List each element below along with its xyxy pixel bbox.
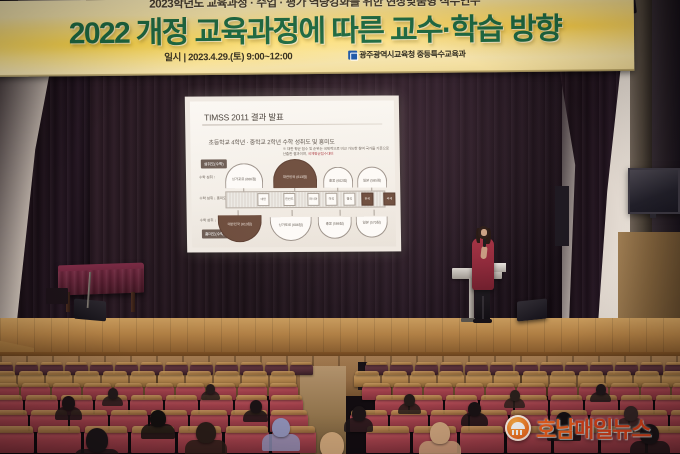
- seat-back-top: [611, 383, 638, 387]
- slide-connector: [292, 210, 293, 216]
- stage-side-opening: [555, 186, 569, 246]
- seat-back-top: [191, 362, 212, 365]
- audience-member-head: [196, 422, 216, 443]
- auditorium-seat: [460, 431, 504, 453]
- slide-subtitle: 초등학교 4학년 · 중학교 2학년 수학 성취도 및 흥미도: [208, 137, 334, 147]
- presenter-shoes: [473, 319, 492, 323]
- seat-back-top: [38, 426, 80, 433]
- seat-back-top: [47, 371, 71, 375]
- seat-back-top: [579, 371, 603, 375]
- seat-back-top: [91, 362, 112, 365]
- seat-back-top: [671, 410, 680, 415]
- podium-laptop: [494, 263, 506, 272]
- event-banner: 2023학년도 교육과정 · 수업 · 평가 역량강화를 위한 현장맞춤형 직무…: [0, 0, 634, 77]
- slide-chip-4: 미국: [325, 193, 337, 206]
- seat-back-top: [621, 395, 652, 400]
- slide-node-top-4: 일본 (585점): [357, 167, 387, 188]
- seat-back-top: [22, 383, 49, 387]
- audience-member-head: [510, 390, 520, 401]
- seat-back-top: [616, 362, 637, 365]
- seat-back-top: [166, 395, 197, 400]
- slide-footnote-line1: ※ 대한 평균 점수 및 순위는 국제적으로 비교 가능한 참여 국가를 기준으…: [283, 146, 389, 156]
- banner-date: 일시 | 2023.4.29.(토) 9:00~12:00: [164, 48, 292, 63]
- audience-member-head: [468, 402, 481, 416]
- banner-organization: 광주광역시교육청 중등특수교육과: [348, 49, 465, 61]
- slide-connector: [374, 210, 375, 216]
- slide-chip-2: 핀란드: [283, 193, 295, 206]
- seat-back-top: [19, 371, 43, 375]
- seat-back-top: [16, 362, 37, 365]
- seat-back-top: [226, 426, 268, 433]
- watermark-text-a: 호남: [536, 417, 574, 442]
- slide-chip-1: 대만: [257, 193, 269, 206]
- seat-back-top: [466, 362, 487, 365]
- slide-chip-5: 영국: [343, 193, 355, 206]
- grand-piano: [58, 262, 144, 295]
- watermark-text-b: 매일뉴스: [574, 417, 650, 442]
- seat-back-top: [549, 383, 576, 387]
- audience-member-head: [108, 388, 118, 399]
- auditorium-seat: [0, 431, 34, 453]
- slide-node-bottom-3: 홍콩 (586점): [318, 217, 352, 239]
- seat-back-top: [383, 371, 407, 375]
- seat-back-top: [166, 362, 187, 365]
- seat-back-top: [291, 362, 312, 365]
- seat-back-top: [467, 371, 491, 375]
- seat-back-top: [266, 362, 287, 365]
- seat-back-top: [0, 410, 27, 415]
- seat-back-top: [355, 371, 379, 375]
- seat-back-top: [376, 395, 407, 400]
- seat-back-top: [0, 371, 15, 375]
- seat-back-top: [146, 383, 173, 387]
- photograph-auditorium-lecture: 2023학년도 교육과정 · 수업 · 평가 역량강화를 위한 현장맞춤형 직무…: [0, 0, 680, 454]
- news-watermark: 호남매일뉴스: [505, 412, 650, 444]
- seat-back-top: [75, 371, 99, 375]
- watermark-text: 호남매일뉴스: [536, 412, 650, 444]
- audience-member-head: [430, 422, 450, 444]
- piano-leg: [131, 292, 135, 312]
- seat-back-top: [456, 383, 483, 387]
- seat-back-top: [159, 371, 183, 375]
- audience-member-head: [86, 428, 108, 452]
- slide-connector: [340, 210, 341, 216]
- audience-member-head: [404, 394, 415, 406]
- seat-back-top: [236, 395, 267, 400]
- seat-back-top: [111, 410, 147, 415]
- honam-maeil-news-logo-icon: [505, 415, 531, 441]
- seat-back-top: [141, 362, 162, 365]
- seat-back-top: [446, 395, 477, 400]
- seat-back-top: [239, 383, 266, 387]
- seat-back-top: [116, 362, 137, 365]
- seat-back-top: [0, 383, 18, 387]
- seat-back-top: [103, 371, 127, 375]
- seat-back-top: [271, 410, 307, 415]
- slide-tag-achievement: 성취도(수학): [201, 159, 227, 168]
- slide-chip-7: 국제: [383, 192, 395, 205]
- banner-organization-label: 광주광역시교육청 중등특수교육과: [359, 49, 465, 61]
- seat-back-top: [431, 410, 467, 415]
- slide-chip-3: 러시아: [307, 193, 319, 206]
- slide-node-bottom-4: 일본 (570점): [356, 217, 388, 238]
- seat-back-top: [66, 362, 87, 365]
- seat-back-top: [0, 426, 33, 433]
- seat-back-top: [187, 371, 211, 375]
- projection-screen: TIMSS 2011 결과 발표 초등학교 4학년 · 중학교 2학년 수학 성…: [185, 95, 401, 252]
- seat-back-top: [439, 371, 463, 375]
- banner-title: 2022 개정 교육과정에 따른 교수·학습 방향: [0, 3, 634, 53]
- audience-member-head: [272, 418, 290, 437]
- seat-back-top: [41, 362, 62, 365]
- seat-back-top: [551, 371, 575, 375]
- auditorium-seat: [37, 431, 81, 453]
- seat-back-top: [271, 395, 302, 400]
- seat-back-top: [523, 371, 547, 375]
- seat-back-top: [363, 383, 390, 387]
- seat-back-top: [191, 410, 227, 415]
- presenter-leg-gap: [482, 296, 484, 320]
- seat-back-top: [241, 362, 262, 365]
- seat-back-top: [663, 371, 680, 375]
- seat-back-top: [243, 371, 267, 375]
- seat-back-top: [366, 362, 387, 365]
- seat-back-top: [53, 383, 80, 387]
- seat-back-top: [131, 371, 155, 375]
- seat-back-top: [495, 371, 519, 375]
- wood-wall-panel-right: [618, 232, 680, 328]
- wall-display-mount: [650, 214, 656, 218]
- seat-back-top: [115, 383, 142, 387]
- seat-back-top: [0, 362, 12, 365]
- seat-back-top: [394, 383, 421, 387]
- seat-back-top: [666, 362, 680, 365]
- audience-member-head: [320, 432, 344, 454]
- seat-back-top: [518, 383, 545, 387]
- slide-node-bottom-2: 싱가포르 (606점): [270, 217, 312, 241]
- seat-back-top: [566, 362, 587, 365]
- seat-back-top: [270, 383, 297, 387]
- seat-back-top: [391, 362, 412, 365]
- seat-back-top: [177, 383, 204, 387]
- seat-back-top: [641, 362, 662, 365]
- audience-member-head: [150, 410, 166, 427]
- seat-back-top: [541, 362, 562, 365]
- floor-monitor-speaker-right: [517, 298, 547, 321]
- seat-back-top: [516, 362, 537, 365]
- audience-member-head: [206, 384, 215, 394]
- seat-back-top: [673, 383, 680, 387]
- seat-back-top: [84, 383, 111, 387]
- seat-back-top: [607, 371, 631, 375]
- auditorium-seat: [366, 431, 410, 453]
- seat-back-top: [461, 426, 503, 433]
- slide-footnote-highlight: 국제평균점수대비: [308, 152, 334, 156]
- slide-axis-label-1: 수학 성취 ↑: [199, 175, 215, 180]
- slide-node-top-3: 홍콩 (602점): [323, 167, 353, 188]
- audience-member-head: [352, 406, 366, 421]
- seat-back-top: [416, 362, 437, 365]
- seat-back-top: [642, 383, 669, 387]
- seat-back-top: [425, 383, 452, 387]
- seat-back-top: [551, 395, 582, 400]
- seat-back-top: [271, 371, 295, 375]
- audience-member-head: [596, 384, 606, 395]
- slide-title: TIMSS 2011 결과 발표: [204, 111, 284, 123]
- presentation-slide: TIMSS 2011 결과 발표 초등학교 4학년 · 중학교 2학년 수학 성…: [190, 100, 396, 247]
- seat-back-top: [215, 371, 239, 375]
- slide-footnote: ※ 대한 평균 점수 및 순위는 국제적으로 비교 가능한 참여 국가를 기준으…: [283, 146, 391, 157]
- slide-title-divider: [202, 124, 382, 126]
- slide-axis-label-3: 수학 성취 ↓: [200, 218, 216, 223]
- piano-bench: [46, 288, 68, 304]
- seat-back-top: [635, 371, 659, 375]
- seat-back-top: [411, 395, 442, 400]
- floor-monitor-speaker-left: [74, 299, 106, 322]
- seat-back-top: [487, 383, 514, 387]
- seat-back-top: [491, 362, 512, 365]
- seat-back-top: [656, 395, 680, 400]
- slide-chip-6: 한국: [361, 193, 373, 206]
- slide-node-top-1: 싱가포르 (606점): [225, 163, 263, 188]
- seat-back-top: [367, 426, 409, 433]
- seat-back-top: [411, 371, 435, 375]
- seat-back-top: [26, 395, 57, 400]
- seat-back-top: [216, 362, 237, 365]
- education-office-logo-icon: [348, 51, 357, 60]
- wall-mounted-display: [628, 168, 680, 214]
- seat-back-top: [441, 362, 462, 365]
- presenter-face: [481, 229, 487, 236]
- seat-back-top: [591, 362, 612, 365]
- audience-member-head: [250, 400, 262, 413]
- seat-back-top: [0, 395, 22, 400]
- slide-node-top-2: 대한민국 (613점): [273, 159, 317, 188]
- seat-back-top: [131, 395, 162, 400]
- audience-member-head: [62, 396, 75, 410]
